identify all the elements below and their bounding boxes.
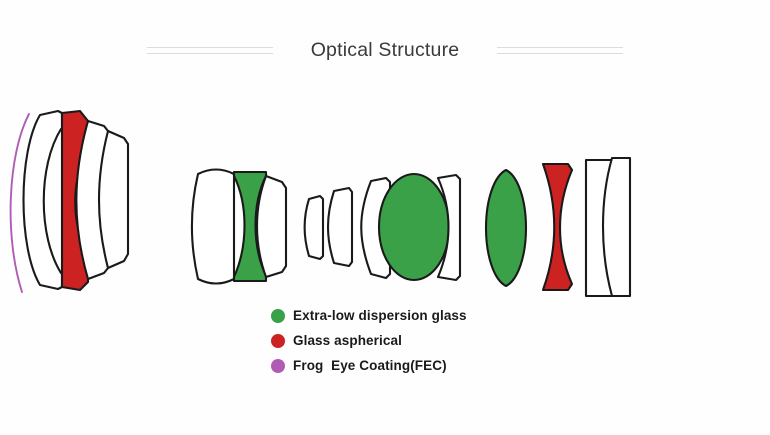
g4-ed-biconvex [486, 170, 526, 286]
page-title-row: Optical Structure [0, 34, 770, 66]
legend-item-frog-eye-coating: Frog Eye Coating(FEC) [271, 353, 571, 378]
legend-label-ed-glass: Extra-low dispersion glass [293, 308, 467, 323]
legend-label-frog-eye-coating: Frog Eye Coating(FEC) [293, 358, 447, 373]
legend-label-glass-aspherical: Glass aspherical [293, 333, 402, 348]
g2-biconvex [192, 170, 234, 284]
g3-ed-biconvex [379, 174, 449, 280]
lens-cross-section-svg [0, 96, 770, 301]
g3-thin-meniscus-1 [305, 196, 324, 259]
optical-structure-page: Optical Structure [0, 0, 770, 435]
legend-item-glass-aspherical: Glass aspherical [271, 328, 571, 353]
legend-dot-frog-eye-coating-icon [271, 359, 285, 373]
legend-item-ed-glass: Extra-low dispersion glass [271, 303, 571, 328]
g4-plano-2 [603, 158, 630, 296]
legend-dot-ed-glass-icon [271, 309, 285, 323]
page-title: Optical Structure [311, 39, 460, 62]
title-rule-right [497, 47, 623, 54]
g2-meniscus [257, 176, 286, 277]
g4-aspherical [543, 164, 572, 290]
title-rule-left [147, 47, 273, 54]
front-meniscus-4 [99, 131, 128, 268]
legend: Extra-low dispersion glass Glass aspheri… [271, 303, 571, 378]
legend-dot-glass-aspherical-icon [271, 334, 285, 348]
g3-thin-meniscus-2 [328, 188, 352, 266]
optical-diagram [0, 96, 770, 301]
